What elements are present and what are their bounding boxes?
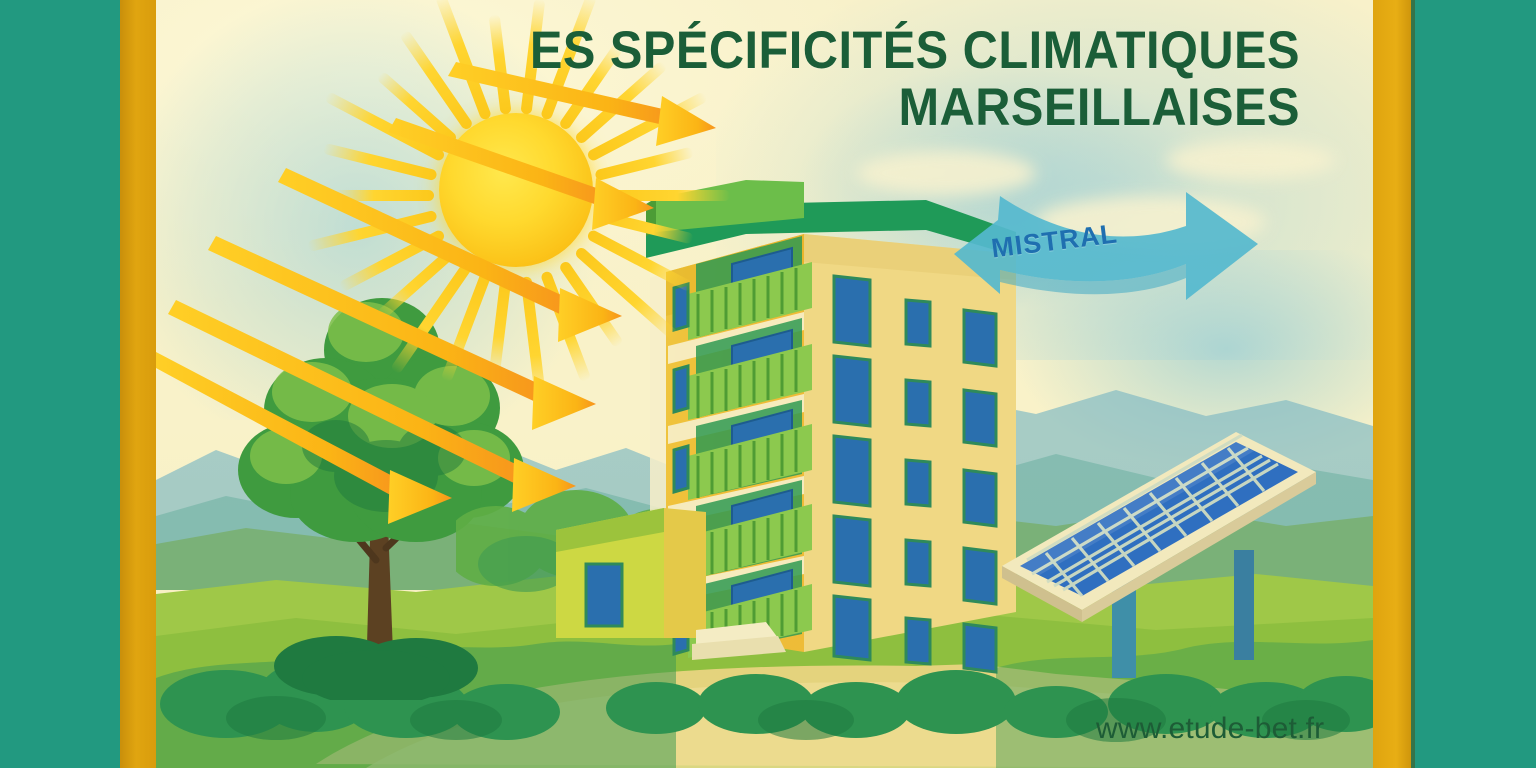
right-teal-margin (1415, 0, 1536, 768)
illustration-area: MISTRAL www.etude-bet.fr (156, 0, 1373, 768)
artist-signature (128, 560, 152, 700)
left-teal-margin (0, 0, 120, 768)
heat-arrows (156, 0, 1373, 768)
website-url[interactable]: www.etude-bet.fr (1096, 712, 1324, 746)
right-gold-border (1373, 0, 1415, 768)
poster-canvas: MISTRAL www.etude-bet.fr ES SPÉCIFICITÉS… (0, 0, 1536, 768)
mistral-wind-arrow (936, 182, 1276, 332)
